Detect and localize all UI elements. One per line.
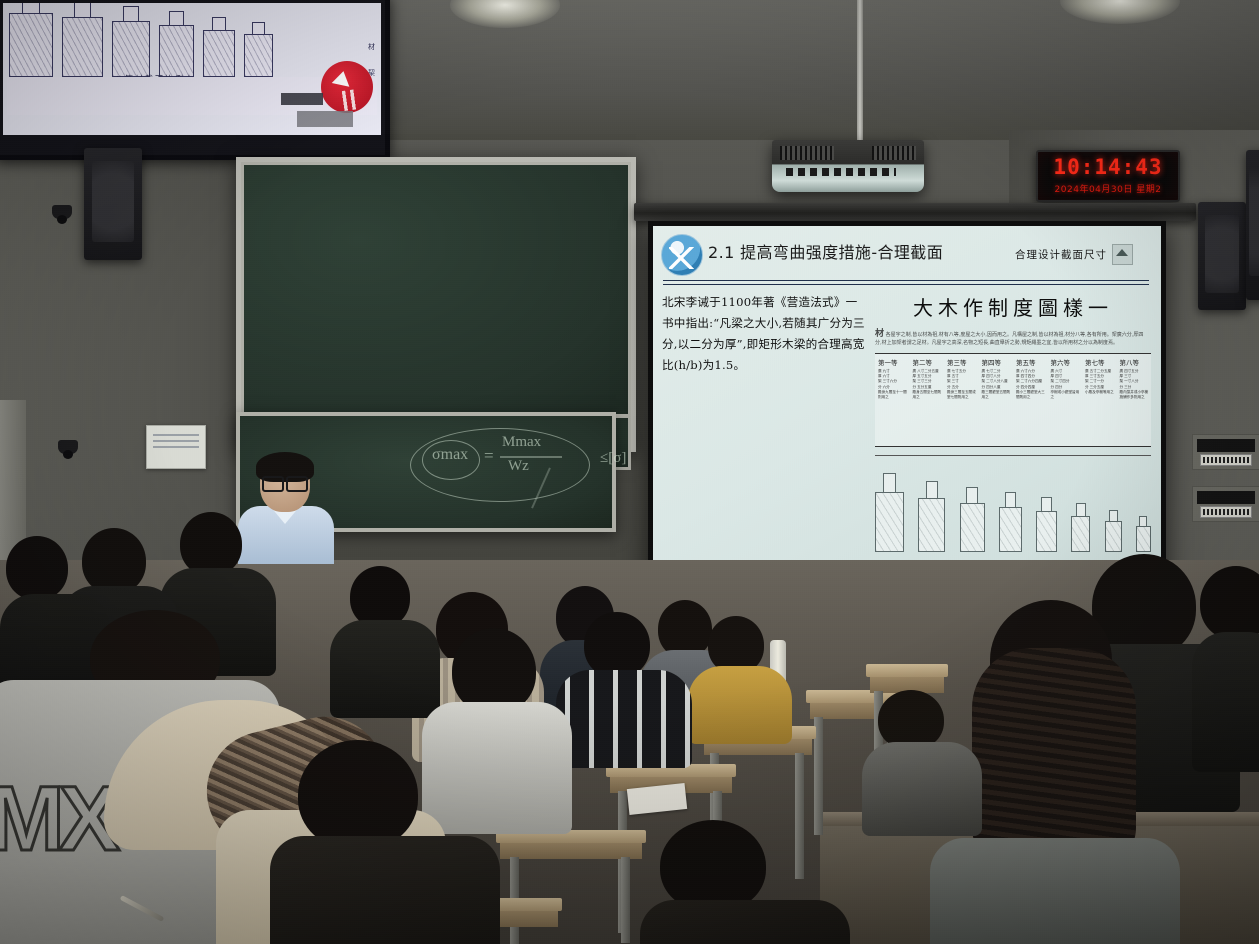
slide-annotation-block: 材 各屋宇之制,皆以材為祖,材有八等,度屋之大小,因而用之。凡構屋之制,皆以材為… xyxy=(875,331,1149,347)
student-head xyxy=(1200,566,1259,640)
student-body xyxy=(930,838,1180,944)
chalkboard-upper xyxy=(236,157,636,452)
student-body xyxy=(862,742,982,836)
ceiling-projector xyxy=(772,140,924,192)
column-cells: 亭榭或小廳堂皆用之 xyxy=(1051,390,1081,400)
student-head xyxy=(584,612,650,678)
column-header: 第二等 xyxy=(913,357,943,367)
timber-section xyxy=(960,487,985,552)
column-header: 第一等 xyxy=(878,357,908,367)
tv-timber-figures xyxy=(3,3,381,77)
projector-vent-right xyxy=(872,146,916,160)
chalk-stress-limit: ≤[σ] xyxy=(600,450,626,467)
slide-annotation-text: 各屋宇之制,皆以材為祖,材有八等,度屋之大小,因而用之。凡構屋之制,皆以材為祖,… xyxy=(875,332,1143,346)
timber-section xyxy=(1036,497,1057,552)
slide-left-column: 北宋李诫于1100年著《营造法式》一书中指出:“凡梁之大小,若随其广分为三分,以… xyxy=(662,292,868,376)
chalkboard-surface xyxy=(241,162,631,447)
projector-mount-pole xyxy=(857,0,863,142)
tv-screen-content: 八等材截面比例大 材栔 xyxy=(3,3,381,135)
table-column: 第六等 廣 六寸 厚 四寸 栔 二寸四分 分 四分 亭榭或小廳堂皆用之 xyxy=(1048,354,1083,446)
panel-label-strip xyxy=(1200,506,1252,518)
slide-title: 2.1 提高弯曲强度措施-合理截面 xyxy=(708,239,943,263)
chalk-sigma-max: σmax xyxy=(432,446,468,464)
slide-header: 2.1 提高弯曲强度措施-合理截面 合理设计截面尺寸 xyxy=(653,226,1161,284)
student-head xyxy=(298,740,418,850)
glasses-icon xyxy=(262,476,308,488)
tv-overlay-tag-upper xyxy=(281,93,323,105)
ceiling-security-camera xyxy=(52,205,72,219)
timber-section xyxy=(918,481,945,552)
table-column: 第五等 廣 六寸六分 厚 四寸四分 栔 二寸六分四厘 分 四分四厘 殿小三間廳堂… xyxy=(1013,354,1048,446)
clock-time: 10:14:43 xyxy=(1053,157,1162,178)
panel-label-strip xyxy=(1200,454,1252,466)
chalk-equals: = xyxy=(484,446,494,466)
digital-wall-clock: 10:14:43 2024年04月30日 星期2 xyxy=(1036,150,1180,202)
column-cells: 殿小三間廳堂大三間則用之 xyxy=(1016,390,1046,400)
column-cells: 栔 二寸六分四厘 xyxy=(1016,379,1046,384)
column-header: 第八等 xyxy=(1120,357,1150,367)
student-body xyxy=(640,900,850,944)
timber-grade-table: 第一等 廣 九寸 厚 六寸 栔 三寸六分 分 六分 殿身九間至十一間則用之 第二… xyxy=(875,353,1151,447)
column-cells: 栔 二寸八分八厘 xyxy=(982,379,1012,384)
timber-figure xyxy=(62,3,103,77)
student-head xyxy=(6,536,68,600)
student-head xyxy=(878,690,944,750)
timber-section xyxy=(1071,503,1090,552)
electrical-panel-upper[interactable] xyxy=(1192,434,1259,470)
student-body xyxy=(688,666,792,744)
student-front-right-dark xyxy=(640,820,850,944)
screen-roller-housing[interactable] xyxy=(634,203,1196,221)
student-head xyxy=(350,566,410,628)
student-mid-right-grey xyxy=(862,690,982,830)
column-cells: 殿身三間至五間或堂七間則用之 xyxy=(947,390,977,400)
student-mustard-jacket xyxy=(688,616,792,736)
student-body xyxy=(270,836,500,944)
student-right-edge xyxy=(1192,566,1259,766)
column-header: 第四等 xyxy=(982,357,1012,367)
panel-display xyxy=(1197,439,1255,452)
column-header: 第五等 xyxy=(1016,357,1046,367)
student-head xyxy=(660,820,766,912)
right-wall-speaker xyxy=(1198,202,1246,310)
left-wall-camera xyxy=(58,440,78,454)
wall-notice-sheet xyxy=(146,425,206,469)
table-column: 第七等 廣 五寸二分五厘 厚 三寸五分 栔 二寸一分 分 三分五厘 小殿及亭榭等… xyxy=(1082,354,1117,446)
clock-date: 2024年04月30日 星期2 xyxy=(1055,182,1162,195)
slide-badge-label: 合理设计截面尺寸 xyxy=(1015,247,1107,262)
timber-section xyxy=(999,492,1022,552)
column-cells: 殿三間廳堂五間則用之 xyxy=(982,390,1012,400)
table-column: 第四等 廣 七寸二分 厚 四寸八分 栔 二寸八分八厘 分 四分八厘 殿三間廳堂五… xyxy=(979,354,1014,446)
timber-figure xyxy=(203,17,235,77)
university-crest-icon xyxy=(661,234,703,276)
table-column: 第一等 廣 九寸 厚 六寸 栔 三寸六分 分 六分 殿身九間至十一間則用之 xyxy=(875,354,910,446)
slide-annotation-lead: 材 xyxy=(875,329,884,339)
table-column: 第八等 廣 四寸五分 厚 三寸 栔 一寸八分 分 三分 殿內藻井或小亭榭施鋪作多… xyxy=(1117,354,1152,446)
timber-section xyxy=(1105,510,1122,552)
home-icon[interactable] xyxy=(1112,244,1133,265)
timber-figure xyxy=(9,3,53,77)
left-wall-speaker xyxy=(84,148,142,260)
column-cells: 小殿及亭榭等用之 xyxy=(1085,390,1115,395)
student-body xyxy=(556,670,692,768)
chalkboard-panel-top xyxy=(241,162,631,417)
column-header: 第六等 xyxy=(1051,357,1081,367)
slide-header-badge: 合理设计截面尺寸 xyxy=(1015,244,1133,265)
projector-port-panel xyxy=(786,168,896,176)
slide-quote-text: 北宋李诫于1100年著《营造法式》一书中指出:“凡梁之大小,若随其广分为三分,以… xyxy=(662,292,868,376)
timber-figure xyxy=(159,11,194,77)
desk-leg xyxy=(621,857,630,943)
slide-header-rule xyxy=(663,280,1149,285)
wall-tv-monitor[interactable]: 八等材截面比例大 材栔 xyxy=(0,0,390,160)
column-header: 第七等 xyxy=(1085,357,1115,367)
column-header: 第三等 xyxy=(947,357,977,367)
classroom-photo-scene: 八等材截面比例大 材栔 σmax = Mmax Wz ≤[σ] xyxy=(0,0,1259,944)
timber-figure xyxy=(244,22,273,77)
timber-section xyxy=(875,473,904,552)
column-cells: 殿內藻井或小亭榭施鋪作多則用之 xyxy=(1120,390,1150,400)
chalk-numerator: Mmax xyxy=(502,434,541,451)
electrical-panel-lower[interactable] xyxy=(1192,486,1259,522)
column-cells: 殿身九間至十一間則用之 xyxy=(878,390,908,400)
tv-overlay-tag xyxy=(297,111,353,127)
table-column: 第二等 廣 八寸二分五厘 厚 五寸五分 栔 三寸三分 分 五分五厘 殿身五間至七… xyxy=(910,354,945,446)
table-column: 第三等 廣 七寸五分 厚 五寸 栔 三寸 分 五分 殿身三間至五間或堂七間則用之 xyxy=(944,354,979,446)
timber-section-figures: 八等材截面比例大小 xyxy=(875,455,1151,552)
student-head xyxy=(180,512,242,576)
column-cells: 殿身五間至七間則用之 xyxy=(913,390,943,400)
chalk-denominator: Wz xyxy=(508,458,529,475)
right-corner-speaker xyxy=(1246,150,1259,300)
student-hair xyxy=(972,648,1136,868)
slide-figure-heading: 大木作制度圖樣一 xyxy=(871,292,1155,321)
student-plaid-shirt xyxy=(556,612,692,762)
projector-vent-left xyxy=(780,146,834,160)
timber-section xyxy=(1136,516,1151,552)
student-body xyxy=(1192,632,1259,772)
timber-figure xyxy=(112,6,150,77)
student-front-dark xyxy=(270,740,500,944)
panel-display xyxy=(1197,491,1255,504)
